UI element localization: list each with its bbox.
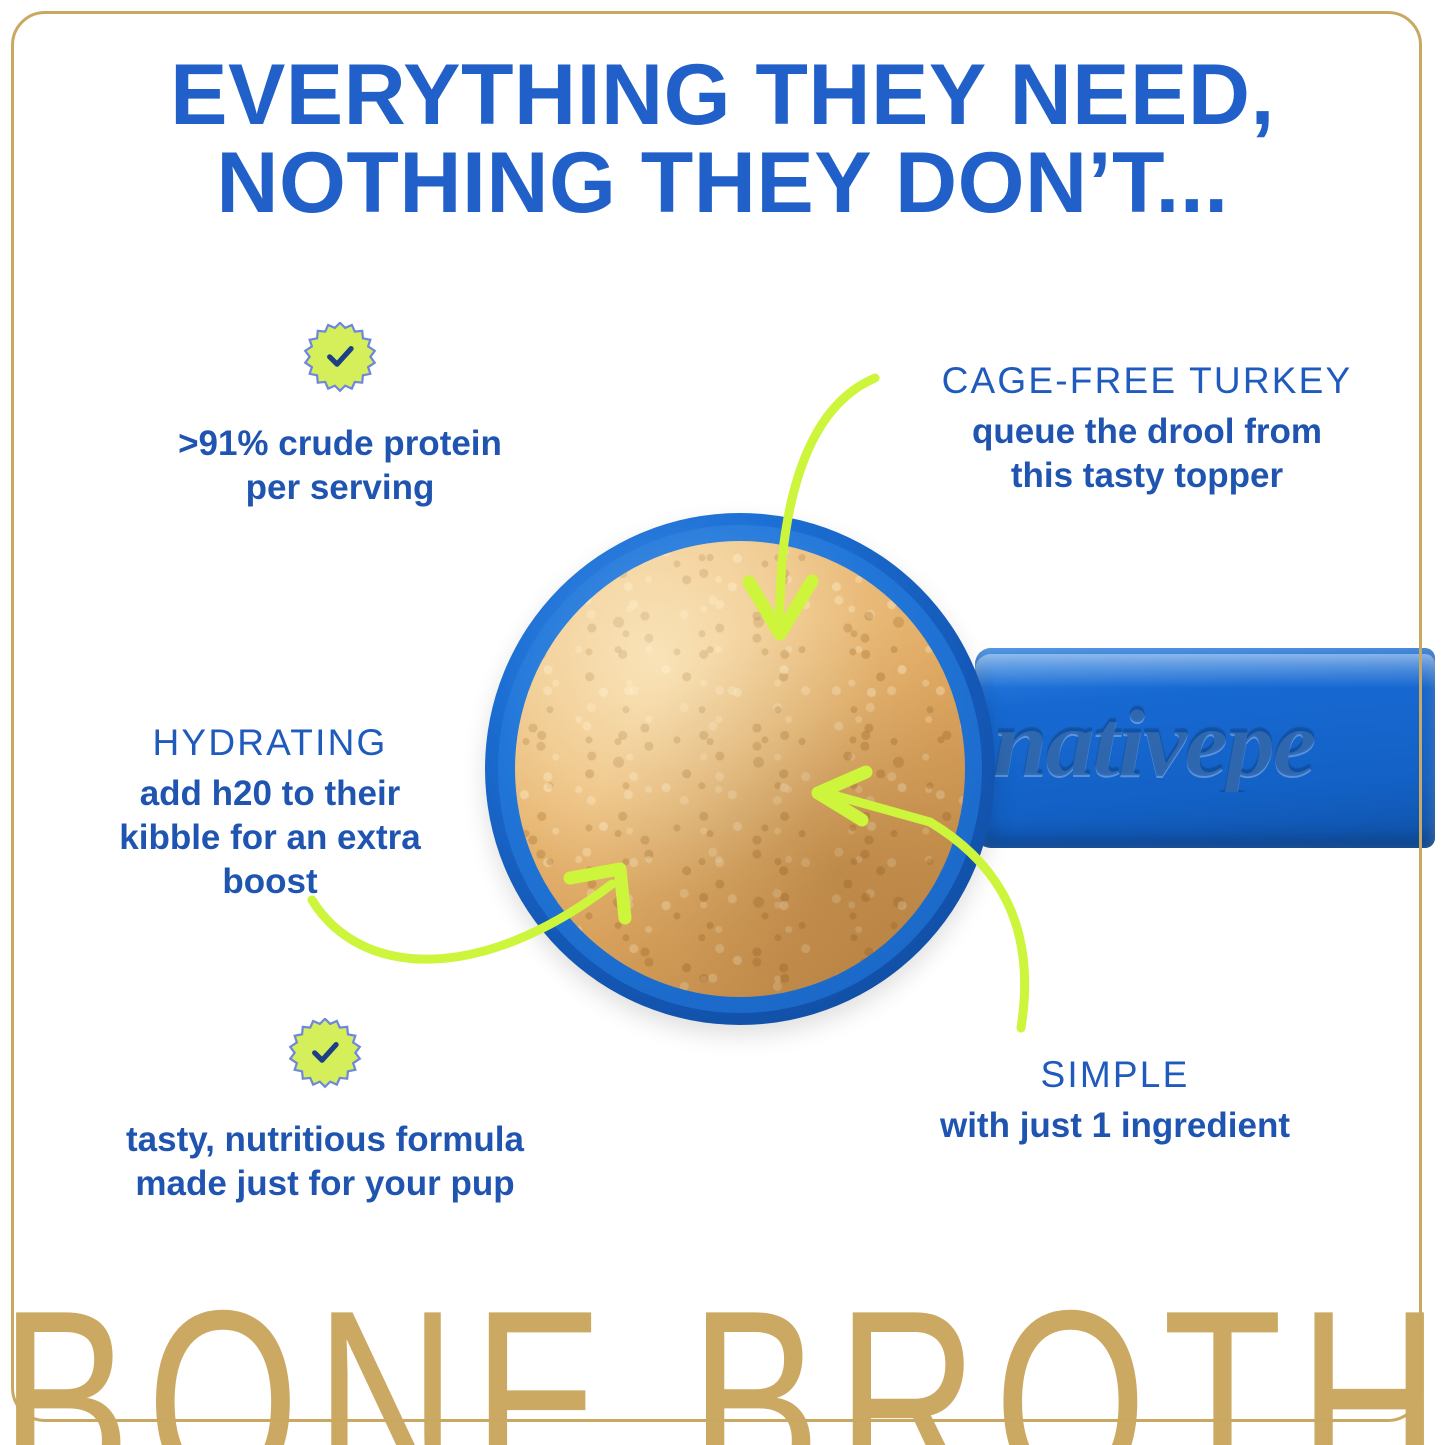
callout-simple-title: SIMPLE [905,1052,1325,1098]
product-photo-scoop: nativepe [455,505,1430,1035]
handle-highlight [975,654,1435,688]
callout-cage-free-turkey: CAGE-FREE TURKEY queue the drool from th… [912,358,1382,498]
scoop-handle: nativepe [975,648,1435,848]
check-badge-icon [288,1018,362,1092]
product-wordmark: BONE BROTH [0,1272,1445,1445]
callout-protein: >91% crude protein per serving [140,322,540,510]
check-badge-icon [303,322,377,396]
callout-hydrating-title: HYDRATING [75,720,465,766]
callout-simple-body: with just 1 ingredient [905,1104,1325,1148]
callout-simple: SIMPLE with just 1 ingredient [905,1052,1325,1148]
callout-turkey-body: queue the drool from this tasty topper [912,410,1382,498]
callout-hydrating-body: add h20 to their kibble for an extra boo… [75,772,465,904]
page-title: EVERYTHING THEY NEED, NOTHING THEY DON’T… [0,52,1445,227]
powder-shading [515,541,965,997]
product-infographic: EVERYTHING THEY NEED, NOTHING THEY DON’T… [0,0,1445,1445]
callout-protein-text: >91% crude protein per serving [140,422,540,510]
bone-broth-powder [515,541,965,997]
callout-hydrating: HYDRATING add h20 to their kibble for an… [75,720,465,905]
brand-embossed-text: nativepe [993,694,1433,792]
callout-formula: tasty, nutritious formula made just for … [105,1018,545,1206]
scoop-bowl [485,513,995,1025]
callout-turkey-title: CAGE-FREE TURKEY [912,358,1382,404]
callout-formula-text: tasty, nutritious formula made just for … [105,1118,545,1206]
